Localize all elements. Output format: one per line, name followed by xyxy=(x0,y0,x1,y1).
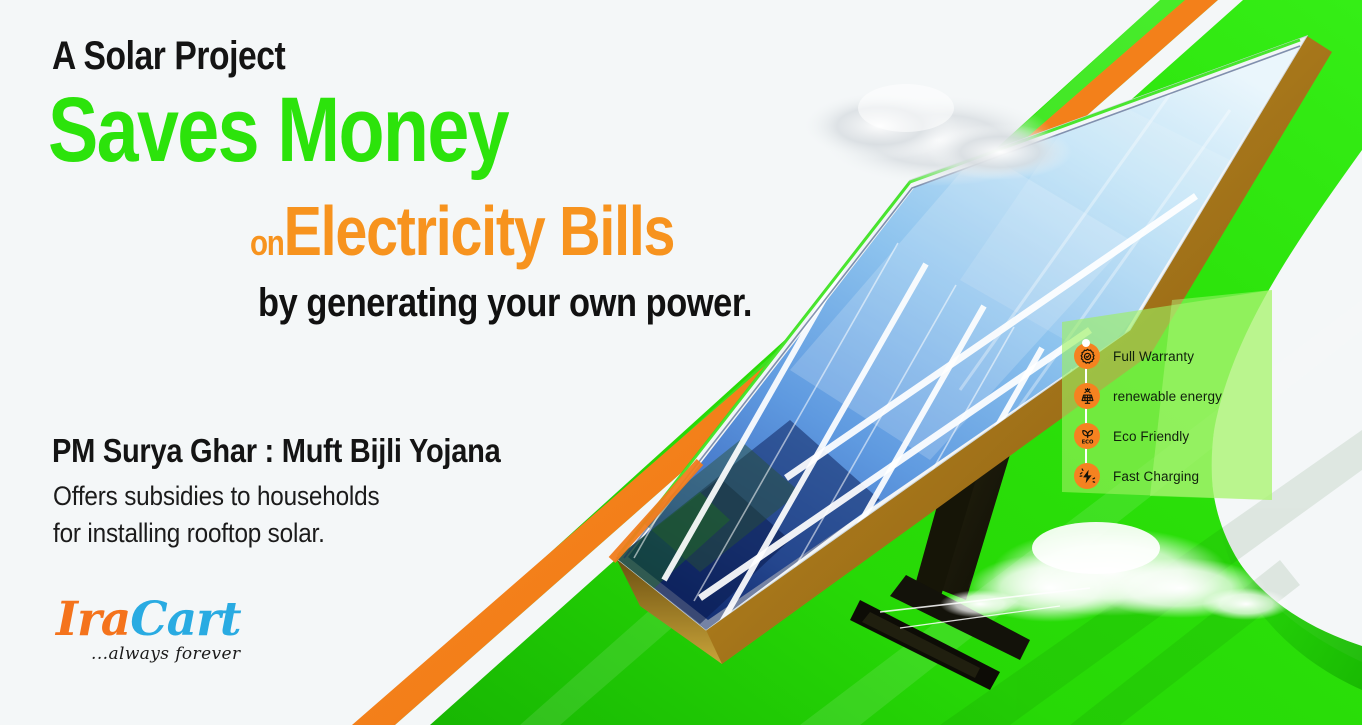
headline-saves-money: Saves Money xyxy=(48,84,508,176)
feature-label: Full Warranty xyxy=(1113,349,1194,364)
warranty-seal-icon xyxy=(1074,343,1100,369)
solar-promo-banner: A Solar Project Saves Money onElectricit… xyxy=(0,0,1362,725)
logo-ira-text: Ira xyxy=(56,592,130,647)
logo-cart-text: Cart xyxy=(130,592,240,647)
eco-leaf-icon: ECO xyxy=(1074,423,1100,449)
feature-label: Eco Friendly xyxy=(1113,429,1189,444)
logo-wordmark: IraCart xyxy=(56,596,241,643)
feature-label: Fast Charging xyxy=(1113,469,1199,484)
headline-electricity-bills: onElectricity Bills xyxy=(250,196,674,266)
feature-item-eco-friendly[interactable]: ECO Eco Friendly xyxy=(1074,416,1284,456)
logo-tagline: ...always forever xyxy=(56,644,241,664)
scheme-subtitle: Offers subsidies to households for insta… xyxy=(53,478,379,551)
iracart-logo[interactable]: IraCart ...always forever xyxy=(56,596,241,664)
headline-on-word: on xyxy=(250,222,284,263)
scheme-title: PM Surya Ghar : Muft Bijli Yojana xyxy=(52,434,500,467)
feature-list: Full Warranty renewable energy xyxy=(1074,336,1284,496)
feature-item-full-warranty[interactable]: Full Warranty xyxy=(1074,336,1284,376)
headline-subline: by generating your own power. xyxy=(258,283,752,323)
svg-text:ECO: ECO xyxy=(1081,439,1093,445)
feature-label: renewable energy xyxy=(1113,389,1222,404)
solar-panel-icon xyxy=(1074,383,1100,409)
feature-item-fast-charging[interactable]: Fast Charging xyxy=(1074,456,1284,496)
lightning-bolt-icon xyxy=(1074,463,1100,489)
feature-item-renewable-energy[interactable]: renewable energy xyxy=(1074,376,1284,416)
headline-electricity-bills-text: Electricity Bills xyxy=(284,192,675,270)
feature-rule-dot xyxy=(1082,339,1090,347)
headline-kicker: A Solar Project xyxy=(52,36,285,76)
